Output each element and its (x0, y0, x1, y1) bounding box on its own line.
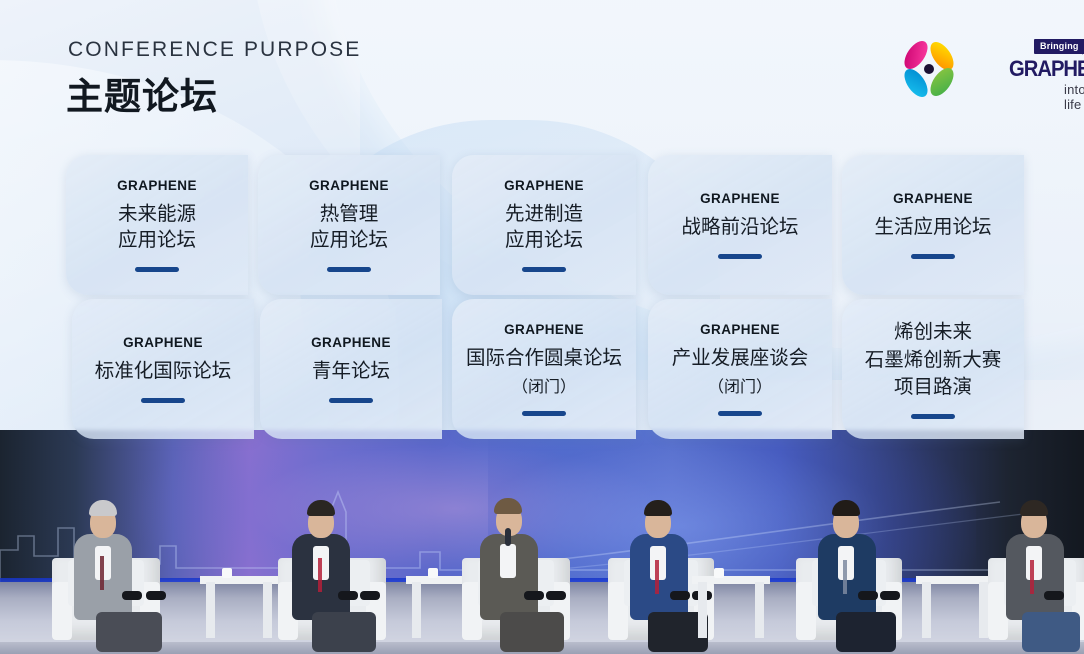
logo-word: GRAPHENE (1009, 56, 1084, 82)
forum-card-title: 未来能源应用论坛 (118, 202, 196, 253)
page-title: 主题论坛 (66, 66, 218, 120)
cup (714, 568, 724, 578)
side-table (200, 576, 278, 638)
logo-tagline: into life (1064, 82, 1084, 112)
microphone-icon (505, 528, 511, 546)
forum-card[interactable]: GRAPHENE 热管理应用论坛 (258, 155, 440, 295)
forum-card-title: 标准化国际论坛 (95, 359, 232, 385)
side-table (692, 576, 770, 638)
forum-card[interactable]: GRAPHENE 先进制造应用论坛 (452, 155, 636, 295)
forum-card-subtitle: （闭门） (708, 373, 772, 397)
forum-card-underline (911, 254, 955, 259)
forum-card-label: GRAPHENE (504, 322, 584, 337)
forum-grid: GRAPHENE 未来能源应用论坛 GRAPHENE 热管理应用论坛 GRAPH… (0, 155, 1084, 443)
forum-card-underline (327, 267, 371, 272)
forum-card-label: GRAPHENE (311, 335, 391, 350)
forum-card-label: GRAPHENE (117, 178, 197, 193)
graphene-logo: Bringing GRAPHENE into life (896, 34, 1046, 104)
forum-row-1: GRAPHENE 未来能源应用论坛 GRAPHENE 热管理应用论坛 GRAPH… (0, 155, 1084, 295)
forum-card-label: GRAPHENE (123, 335, 203, 350)
cup (428, 568, 438, 578)
forum-card[interactable]: GRAPHENE 标准化国际论坛 (72, 299, 254, 439)
forum-card-underline (522, 267, 566, 272)
forum-card-title: 烯创未来 石墨烯创新大赛 项目路演 (865, 319, 1002, 402)
logo-wordmark: Bringing GRAPHENE into life (958, 36, 1050, 102)
forum-card[interactable]: GRAPHENE 国际合作圆桌论坛 （闭门） (452, 299, 636, 439)
forum-card-underline (718, 254, 762, 259)
forum-card-underline (718, 411, 762, 416)
forum-card[interactable]: GRAPHENE 青年论坛 (260, 299, 442, 439)
forum-card-subtitle: （闭门） (512, 373, 576, 397)
forum-card-label: GRAPHENE (700, 322, 780, 337)
pinwheel-icon (896, 38, 962, 100)
forum-card-title: 国际合作圆桌论坛 (466, 346, 622, 372)
stage-photo (0, 430, 1084, 654)
forum-card-underline (329, 398, 373, 403)
slide-root: CONFERENCE PURPOSE 主题论坛 (0, 0, 1084, 654)
forum-card-underline (135, 267, 179, 272)
forum-card[interactable]: GRAPHENE 未来能源应用论坛 (66, 155, 248, 295)
forum-card-title: 生活应用论坛 (874, 215, 991, 241)
forum-card-title: 热管理应用论坛 (310, 202, 388, 253)
forum-card-title: 先进制造应用论坛 (505, 202, 583, 253)
page-eyebrow: CONFERENCE PURPOSE (68, 38, 361, 62)
forum-card-label: GRAPHENE (504, 178, 584, 193)
side-table (916, 576, 994, 638)
forum-card[interactable]: 烯创未来 石墨烯创新大赛 项目路演 (842, 299, 1024, 439)
forum-card[interactable]: GRAPHENE 生活应用论坛 (842, 155, 1024, 295)
cup (222, 568, 232, 578)
forum-card-underline (522, 411, 566, 416)
bringing-badge: Bringing (1034, 39, 1084, 54)
forum-card-title: 产业发展座谈会 (672, 346, 809, 372)
forum-card-underline (911, 414, 955, 419)
forum-card-label: GRAPHENE (700, 191, 780, 206)
forum-card[interactable]: GRAPHENE 产业发展座谈会 （闭门） (648, 299, 832, 439)
forum-card-underline (141, 398, 185, 403)
forum-card-label: GRAPHENE (893, 191, 973, 206)
forum-card[interactable]: GRAPHENE 战略前沿论坛 (648, 155, 832, 295)
forum-card-title: 青年论坛 (312, 359, 390, 385)
forum-card-title: 战略前沿论坛 (681, 215, 798, 241)
forum-row-2: GRAPHENE 标准化国际论坛 GRAPHENE 青年论坛 GRAPHENE … (0, 299, 1084, 439)
forum-card-label: GRAPHENE (309, 178, 389, 193)
